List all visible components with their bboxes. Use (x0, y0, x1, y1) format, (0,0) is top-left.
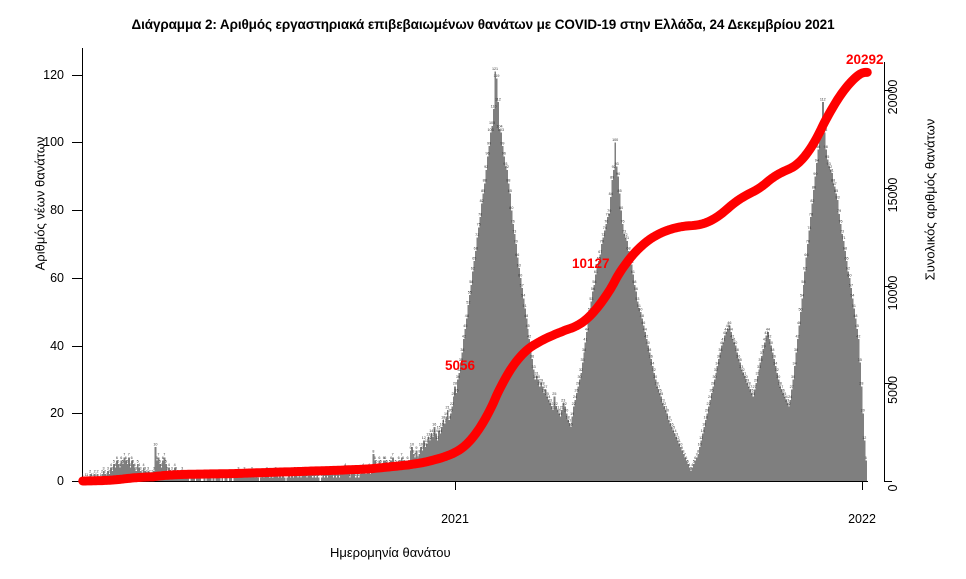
y-tick-label-right-0: 0 (886, 485, 900, 492)
y-tick-left-20 (72, 413, 82, 414)
cumulative-annotation-10127: 10127 (572, 256, 610, 271)
y-axis-right-line (884, 62, 885, 481)
y-tick-left-80 (72, 210, 82, 211)
y-tick-left-120 (72, 75, 82, 76)
x-tick-label-2021: 2021 (441, 512, 469, 526)
y-tick-label-right-20000: 20000 (886, 80, 900, 115)
y-axis-right-label: Συνολικός αριθμός θανάτων (923, 50, 938, 350)
cumulative-deaths-curve (82, 48, 868, 481)
y-tick-left-60 (72, 278, 82, 279)
x-tick-label-2022: 2022 (848, 512, 876, 526)
y-tick-label-right-10000: 10000 (886, 275, 900, 310)
y-tick-label-right-15000: 15000 (886, 178, 900, 213)
x-axis-line (82, 481, 868, 482)
y-axis-left-label: Αριθμός νέων θανάτων (33, 54, 48, 354)
y-tick-label-left-0: 0 (4, 474, 64, 488)
x-tick-2022 (862, 481, 863, 490)
y-tick-label-left-20: 20 (4, 406, 64, 420)
cumulative-annotation-20292: 20292 (846, 52, 884, 67)
x-axis-label: Ημερομηνία θανάτου (330, 545, 451, 560)
y-tick-label-right-5000: 5000 (886, 376, 900, 404)
plot-area: 1112112121232132435465465765746543543243… (82, 48, 868, 481)
chart-title: Διάγραμμα 2: Αριθμός εργαστηριακά επιβεβ… (0, 17, 966, 32)
y-tick-right-0 (884, 481, 892, 482)
y-tick-left-40 (72, 346, 82, 347)
chart-figure: Διάγραμμα 2: Αριθμός εργαστηριακά επιβεβ… (0, 0, 966, 579)
cumulative-annotation-5056: 5056 (445, 358, 475, 373)
y-tick-left-100 (72, 142, 82, 143)
x-tick-2021 (455, 481, 456, 490)
